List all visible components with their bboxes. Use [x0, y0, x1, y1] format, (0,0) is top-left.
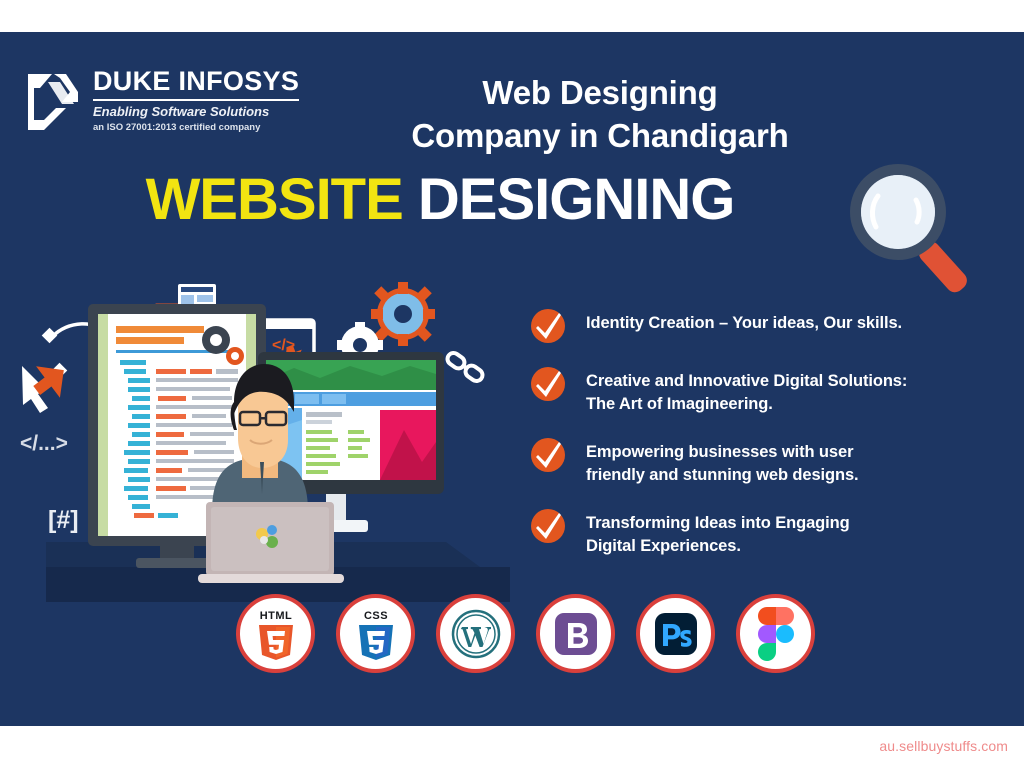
check-badge-icon: [527, 504, 569, 546]
feature-list: Identity Creation – Your ideas, Our skil…: [527, 310, 1007, 559]
bootstrap-icon: [551, 609, 601, 659]
tech-chip-wordpress[interactable]: [436, 594, 515, 673]
web-developer-at-desk-illustration: T </>: [10, 262, 510, 602]
feature-text-line: Creative and Innovative Digital Solution…: [586, 370, 907, 393]
link-chain-icon: [445, 351, 485, 384]
photoshop-icon: [651, 609, 701, 659]
wordpress-icon: [450, 608, 502, 660]
check-badge-icon: [527, 304, 569, 346]
feature-text-line: Digital Experiences.: [586, 535, 850, 558]
html5-icon: HTML: [250, 606, 302, 662]
feature-item: Identity Creation – Your ideas, Our skil…: [527, 310, 1007, 346]
page-title-rest: DESIGNING: [418, 167, 735, 232]
feature-item: Empowering businesses with user friendly…: [527, 439, 1007, 488]
banner-page: DUKE INFOSYS Enabling Software Solutions…: [0, 0, 1024, 768]
feature-text-line: Transforming Ideas into Engaging: [586, 512, 850, 535]
magnifying-glass-icon: [840, 160, 990, 295]
banner-canvas: DUKE INFOSYS Enabling Software Solutions…: [0, 32, 1024, 726]
tech-chip-figma[interactable]: [736, 594, 815, 673]
check-badge-icon: [527, 362, 569, 404]
duke-infosys-logo-mark: [22, 68, 84, 134]
logo-company-name: DUKE INFOSYS: [93, 68, 299, 95]
arrow-cursor-icon: [22, 366, 64, 413]
code-brackets-glyph: </...>: [20, 432, 68, 455]
feature-text: Transforming Ideas into Engaging Digital…: [586, 510, 850, 559]
feature-text: Creative and Innovative Digital Solution…: [586, 368, 907, 417]
feature-text-line: Identity Creation – Your ideas, Our skil…: [586, 312, 902, 335]
site-watermark: au.sellbuystuffs.com: [879, 738, 1008, 754]
svg-text:CSS: CSS: [363, 610, 387, 622]
tech-chip-bootstrap[interactable]: [536, 594, 615, 673]
hash-brackets-glyph: [#]: [48, 506, 79, 534]
feature-text: Identity Creation – Your ideas, Our skil…: [586, 310, 902, 335]
headline-line-1: Web Designing: [300, 72, 900, 115]
logo-iso-certification: an ISO 27001:2013 certified company: [93, 121, 299, 134]
feature-text-line: The Art of Imagineering.: [586, 393, 907, 416]
gear-icon-large: [371, 282, 435, 346]
page-title: WEBSITE DESIGNING: [0, 171, 880, 229]
company-logo[interactable]: DUKE INFOSYS Enabling Software Solutions…: [22, 68, 299, 134]
laptop: [198, 502, 344, 583]
headline: Web Designing Company in Chandigarh: [300, 72, 900, 157]
feature-item: Creative and Innovative Digital Solution…: [527, 368, 1007, 417]
figma-icon: [757, 606, 795, 662]
tech-chip-html5[interactable]: HTML: [236, 594, 315, 673]
feature-text: Empowering businesses with user friendly…: [586, 439, 859, 488]
css3-icon: CSS: [350, 606, 402, 662]
logo-tagline: Enabling Software Solutions: [93, 105, 299, 120]
logo-text-block: DUKE INFOSYS Enabling Software Solutions…: [93, 68, 299, 134]
tech-chip-css3[interactable]: CSS: [336, 594, 415, 673]
tech-chip-photoshop[interactable]: [636, 594, 715, 673]
feature-text-line: friendly and stunning web designs.: [586, 464, 859, 487]
check-badge-icon: [527, 433, 569, 475]
logo-divider: [93, 99, 299, 101]
page-title-highlight: WEBSITE: [146, 167, 403, 232]
headline-line-2: Company in Chandigarh: [300, 115, 900, 158]
svg-text:HTML: HTML: [259, 610, 292, 622]
feature-item: Transforming Ideas into Engaging Digital…: [527, 510, 1007, 559]
feature-text-line: Empowering businesses with user: [586, 441, 859, 464]
tech-stack-strip: HTML CSS: [236, 594, 815, 673]
